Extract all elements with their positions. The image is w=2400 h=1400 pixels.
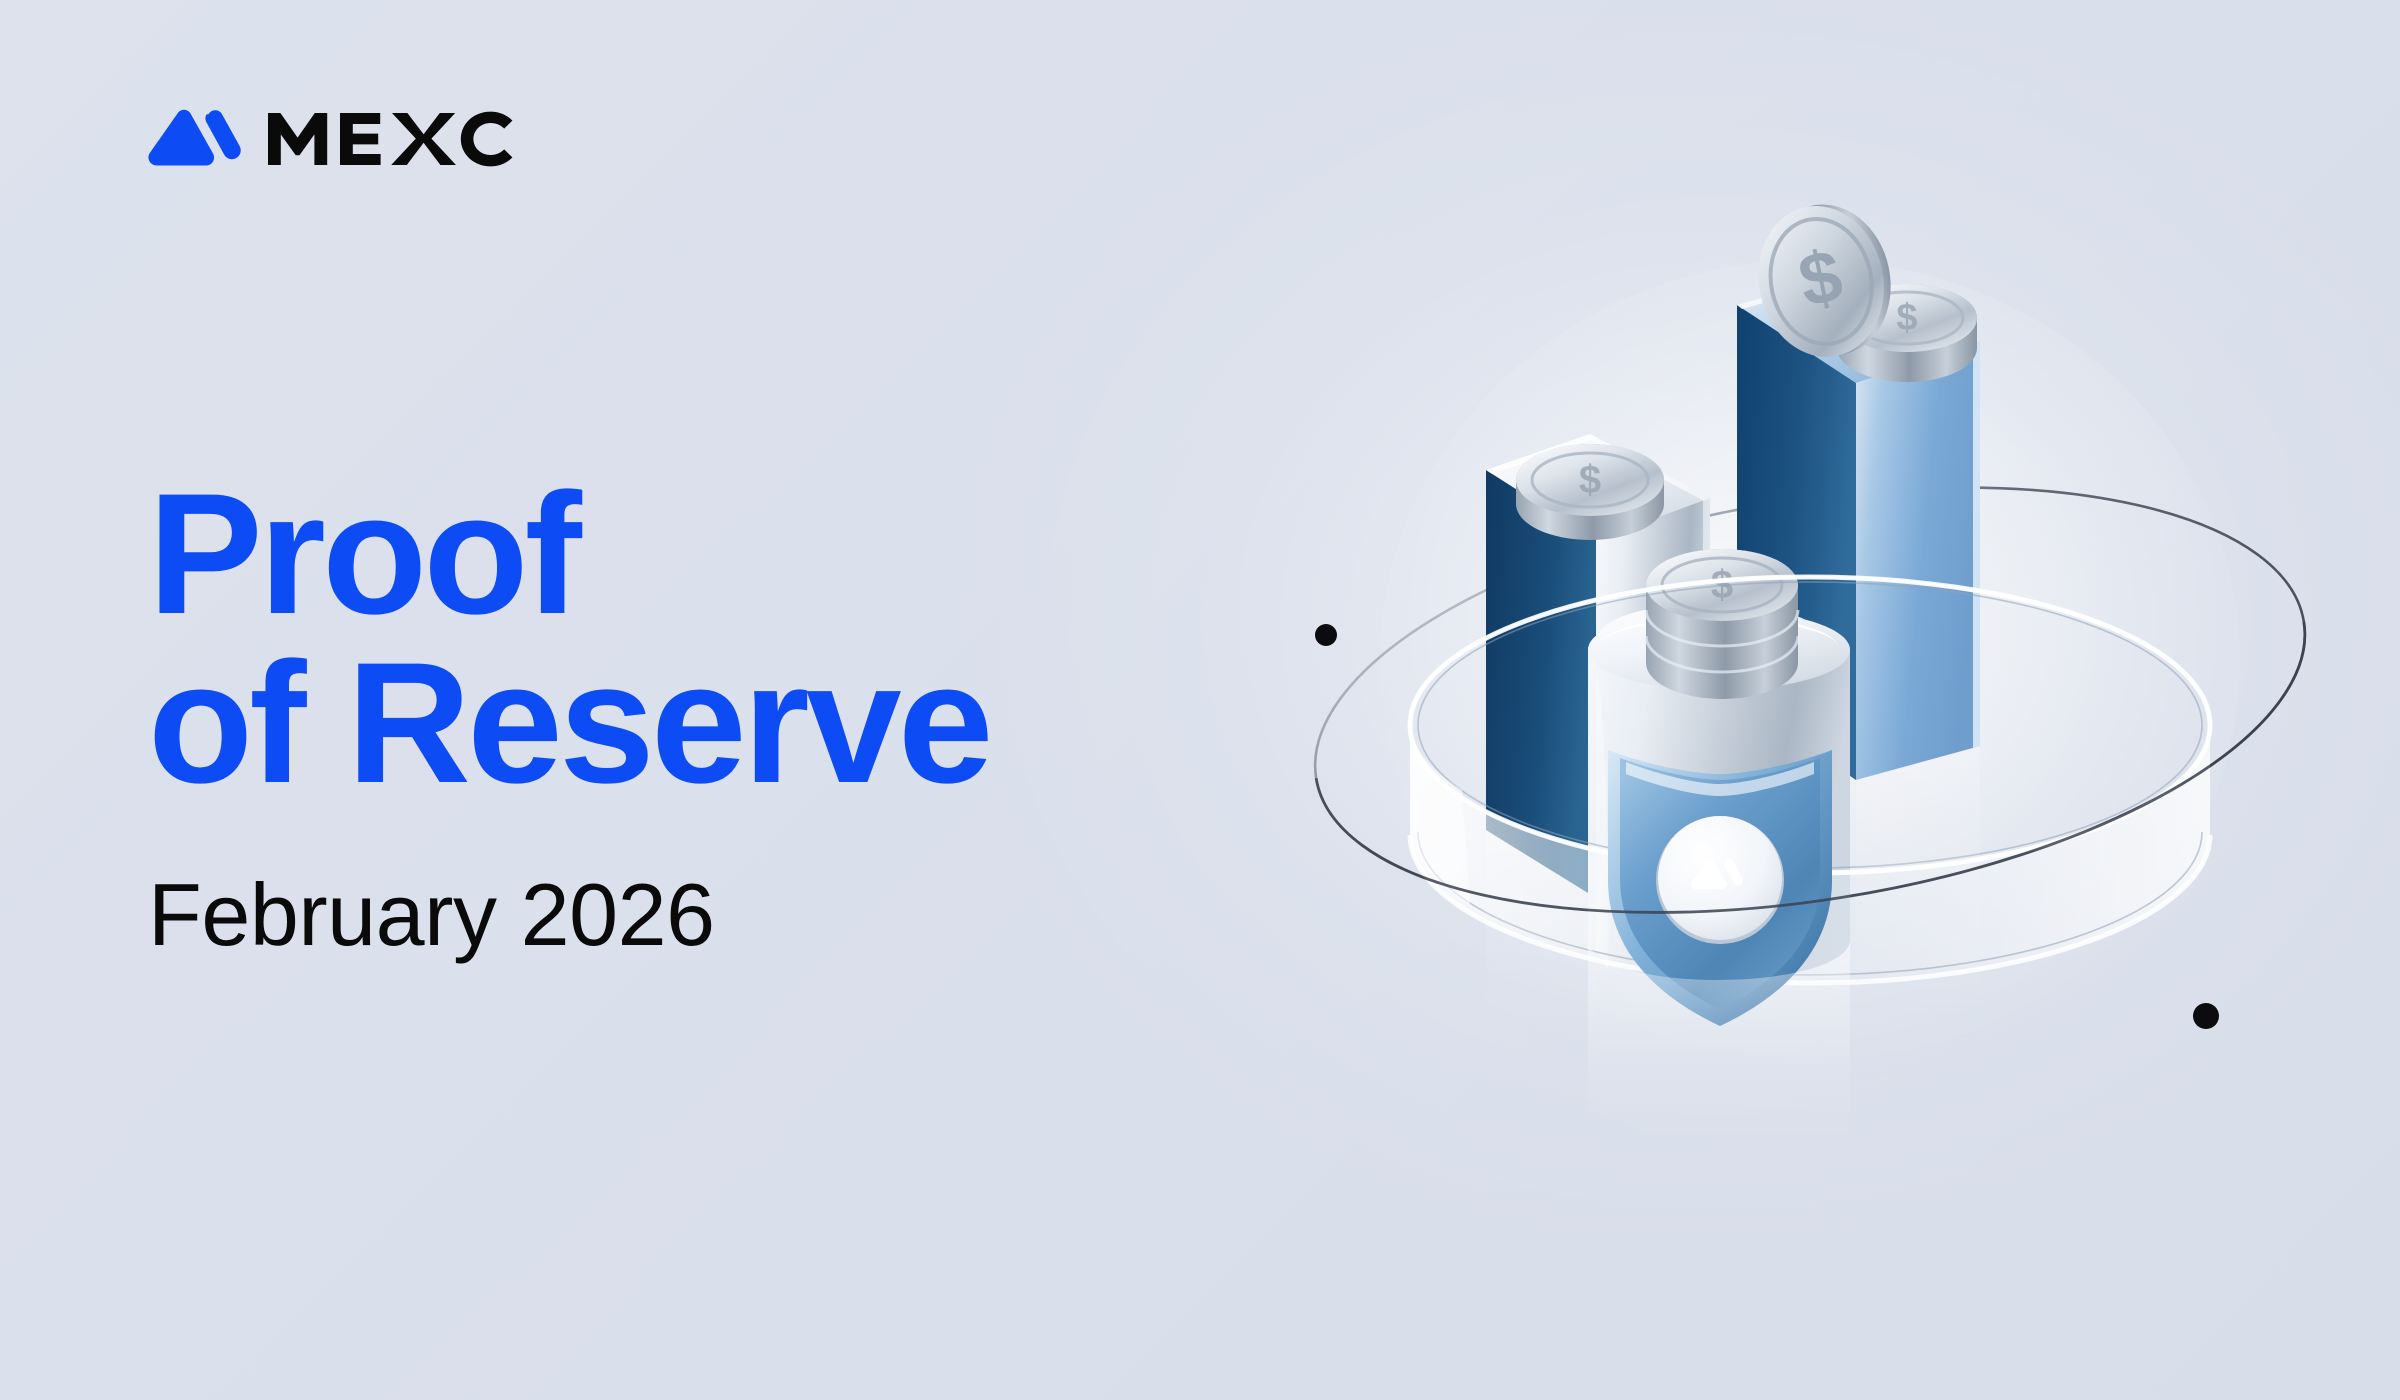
report-period: February 2026 bbox=[148, 871, 1298, 959]
headline-block: Proof of Reserve February 2026 bbox=[148, 470, 1298, 959]
proof-of-reserve-banner: Proof of Reserve February 2026 bbox=[0, 0, 2400, 1400]
page-title: Proof of Reserve bbox=[148, 470, 1298, 807]
svg-text:$: $ bbox=[1896, 297, 1917, 339]
mexc-logo[interactable] bbox=[146, 108, 530, 170]
proof-of-reserve-illustration: $ $ bbox=[1290, 180, 2310, 1200]
svg-text:$: $ bbox=[1579, 458, 1601, 502]
mexc-mountain-icon bbox=[146, 108, 242, 170]
orbit-dot-right bbox=[2193, 1003, 2219, 1029]
mexc-wordmark bbox=[268, 111, 530, 167]
coin-left-bar: $ bbox=[1516, 444, 1664, 540]
orbit-dot-left bbox=[1315, 624, 1337, 646]
coin-stack-center-bar: $ bbox=[1646, 549, 1798, 699]
